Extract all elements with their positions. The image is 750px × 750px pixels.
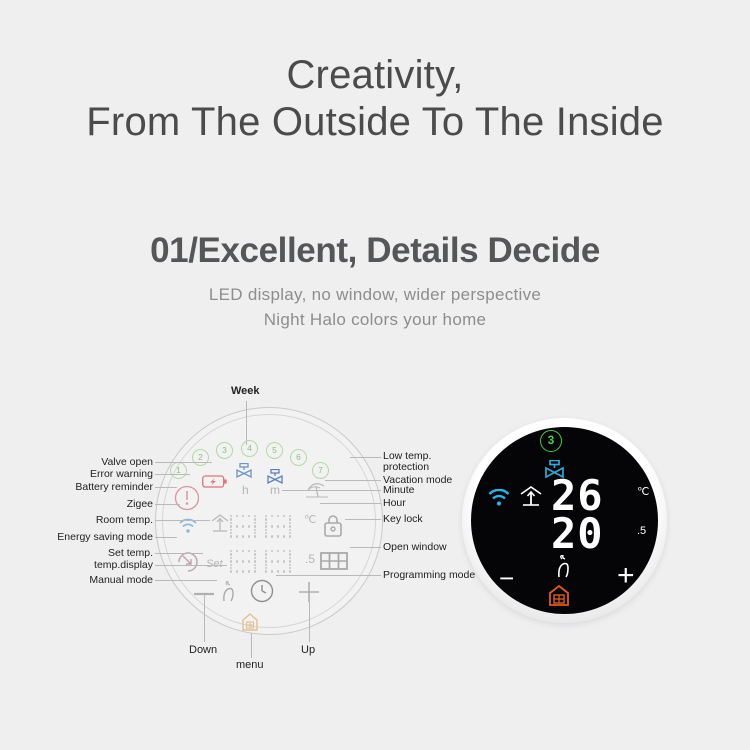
device-temperature-sub: 20 bbox=[551, 509, 604, 558]
diagram-label-up: Up bbox=[301, 644, 315, 656]
section-subtitle-line-1: LED display, no window, wider perspectiv… bbox=[0, 283, 750, 308]
device-temperature-readout: 26 20 bbox=[551, 483, 633, 553]
diagram-week-7: 7 bbox=[312, 462, 329, 479]
diagram-label-room-temp: Room temp. bbox=[20, 515, 153, 527]
leader-vacation-mode bbox=[325, 480, 381, 481]
device-room-temp-icon bbox=[518, 485, 544, 513]
diagram-week-1: 1 bbox=[170, 462, 187, 479]
diagram-week-6: 6 bbox=[290, 449, 307, 466]
diagram-digit-bottom-left bbox=[230, 550, 260, 574]
diagram-week-4: 4 bbox=[241, 440, 258, 457]
device-flame-icon bbox=[554, 555, 576, 579]
leader-programming-mode bbox=[276, 575, 381, 576]
device-half-step: .5 bbox=[637, 525, 646, 537]
diagram-error-warning-icon bbox=[174, 485, 200, 511]
device-unit-celsius: ℃ bbox=[637, 485, 649, 498]
leader-set-temp bbox=[155, 553, 203, 554]
leader-open-window bbox=[350, 547, 381, 548]
diagram-night-halo-house-icon bbox=[240, 612, 260, 632]
device-plus-button[interactable]: + bbox=[617, 561, 635, 591]
diagram-label-energy-saving-mode: Energy saving mode bbox=[20, 532, 153, 544]
diagram-digit-top-left bbox=[230, 515, 260, 539]
leader-hour bbox=[320, 503, 381, 504]
page-headline: Creativity, From The Outside To The Insi… bbox=[0, 52, 750, 146]
diagram-label-valve-open: Valve open bbox=[20, 457, 153, 469]
diagram-digit-top-right bbox=[265, 515, 295, 539]
diagram-programming-clock-icon bbox=[250, 579, 274, 603]
section-subtitle: LED display, no window, wider perspectiv… bbox=[0, 283, 750, 332]
diagram-label-error-warning: Error warning bbox=[20, 469, 153, 481]
leader-minute bbox=[282, 490, 381, 491]
thermostat-device[interactable]: 3 26 bbox=[462, 418, 667, 623]
diagram-label-minute: Minute bbox=[383, 485, 415, 497]
thermostat-diagram: Week 1 2 3 4 5 6 7 bbox=[20, 385, 490, 675]
diagram-label-key-lock: Key lock bbox=[383, 514, 423, 526]
leader-room-temp bbox=[155, 520, 210, 521]
diagram-label-hour: Hour bbox=[383, 498, 406, 510]
leader-energy-saving bbox=[155, 537, 177, 538]
diagram-label-week: Week bbox=[231, 385, 260, 397]
leader-valve-open bbox=[155, 462, 212, 463]
leader-key-lock bbox=[345, 519, 381, 520]
diagram-label-battery-reminder: Battery reminder bbox=[20, 482, 153, 494]
device-wifi-icon bbox=[488, 489, 510, 507]
leader-low-temp bbox=[350, 457, 381, 458]
leader-temp-display bbox=[155, 565, 227, 566]
diagram-celsius-unit: ℃ bbox=[304, 514, 316, 526]
leader-manual-mode bbox=[155, 580, 217, 581]
diagram-minute-unit: m bbox=[270, 484, 280, 497]
diagram-label-low-temp-protection: protection bbox=[383, 462, 429, 474]
diagram-manual-mode-icon bbox=[220, 581, 240, 603]
diagram-label-open-window: Open window bbox=[383, 542, 447, 554]
diagram-label-manual-mode: Manual mode bbox=[20, 575, 153, 587]
diagram-valve-open-icon bbox=[234, 463, 254, 479]
diagram-hour-unit: h bbox=[242, 484, 249, 497]
page-root: Creativity, From The Outside To The Insi… bbox=[0, 0, 750, 750]
diagram-label-down: Down bbox=[189, 644, 217, 656]
diagram-battery-reminder-icon bbox=[202, 474, 228, 489]
leader-zigee bbox=[155, 504, 180, 505]
device-screen[interactable]: 3 26 bbox=[471, 427, 658, 614]
diagram-key-lock-icon bbox=[323, 514, 343, 538]
diagram-week-3: 3 bbox=[216, 442, 233, 459]
diagram-half-degree: .5 bbox=[305, 553, 315, 566]
leader-week bbox=[246, 401, 247, 445]
headline-line-2: From The Outside To The Inside bbox=[0, 99, 750, 146]
leader-up bbox=[309, 595, 310, 642]
diagram-label-set-temp: Set temp. bbox=[20, 548, 153, 560]
leader-battery-reminder bbox=[155, 487, 177, 488]
leader-menu bbox=[251, 633, 252, 658]
diagram-week-5: 5 bbox=[266, 442, 283, 459]
leader-error-warning bbox=[155, 474, 190, 475]
diagram-room-temp-icon bbox=[208, 513, 232, 539]
diagram-open-window-icon bbox=[320, 551, 348, 571]
device-week-badge: 3 bbox=[540, 430, 562, 452]
device-house-icon[interactable] bbox=[547, 584, 571, 608]
diagram-label-zigee: Zigee bbox=[20, 499, 153, 511]
diagram-label-temp-display: temp.display bbox=[20, 560, 153, 572]
device-minus-button[interactable]: − bbox=[499, 565, 514, 591]
section-title: 01/Excellent, Details Decide bbox=[0, 231, 750, 271]
section-subtitle-line-2: Night Halo colors your home bbox=[0, 308, 750, 333]
headline-line-1: Creativity, bbox=[0, 52, 750, 99]
diagram-week-2: 2 bbox=[192, 449, 209, 466]
diagram-digit-bottom-right bbox=[265, 550, 295, 574]
diagram-label-menu: menu bbox=[236, 659, 264, 671]
leader-down bbox=[204, 595, 205, 642]
